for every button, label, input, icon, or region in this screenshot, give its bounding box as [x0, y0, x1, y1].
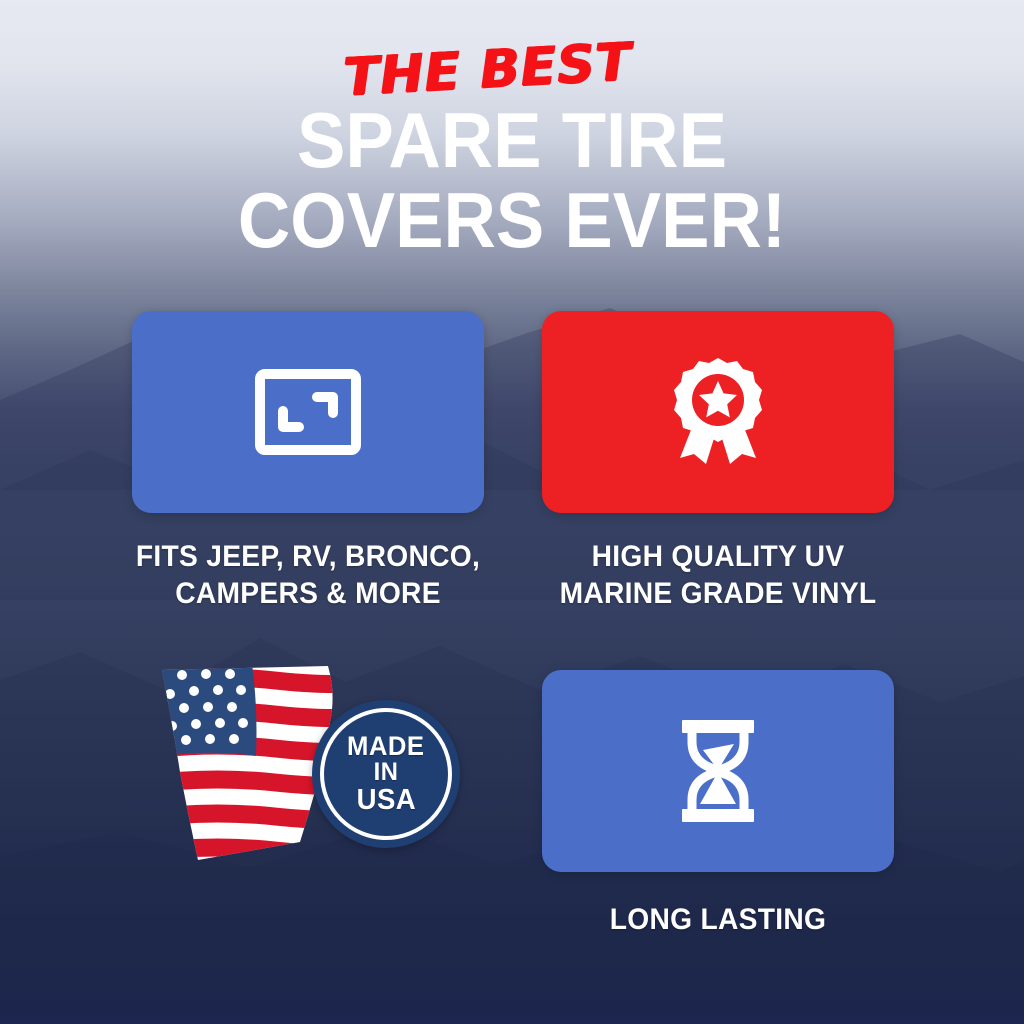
headline-block: THE BEST SPARE TIRE COVERS EVER! — [0, 44, 1024, 259]
headline-line-1: SPARE TIRE — [36, 102, 988, 178]
award-ribbon-icon — [666, 354, 770, 470]
feature-quality-caption-line-2: MARINE GRADE VINYL — [560, 577, 877, 610]
feature-lasting-tile — [542, 670, 894, 872]
feature-fits-caption-line-1: FITS JEEP, RV, BRONCO, — [136, 540, 480, 573]
feature-lasting-caption: LONG LASTING — [521, 902, 916, 939]
feature-quality-caption-line-1: HIGH QUALITY UV — [592, 540, 845, 573]
feature-fits-caption: FITS JEEP, RV, BRONCO, CAMPERS & MORE — [111, 539, 506, 612]
fit-resize-icon — [255, 369, 361, 455]
made-in-usa-badge: MADE IN USA — [312, 700, 460, 848]
feature-long-lasting: LONG LASTING — [508, 670, 928, 939]
feature-fits-caption-line-2: CAMPERS & MORE — [175, 577, 441, 610]
badge-text-in: IN — [374, 760, 399, 786]
hourglass-icon — [676, 718, 760, 824]
usa-flag-badge-art: MADE IN USA — [132, 660, 484, 872]
feature-quality: HIGH QUALITY UV MARINE GRADE VINYL — [508, 311, 928, 612]
feature-made-in-usa: MADE IN USA — [98, 660, 518, 872]
feature-quality-tile — [542, 311, 894, 513]
feature-fits-tile — [132, 311, 484, 513]
made-in-usa-badge-ring: MADE IN USA — [320, 708, 452, 840]
feature-fits: FITS JEEP, RV, BRONCO, CAMPERS & MORE — [98, 311, 518, 612]
feature-quality-caption: HIGH QUALITY UV MARINE GRADE VINYL — [521, 539, 916, 612]
badge-text-made: MADE — [347, 733, 424, 761]
badge-text-usa: USA — [356, 786, 416, 816]
headline-line-2: COVERS EVER! — [36, 182, 988, 258]
promo-poster: THE BEST SPARE TIRE COVERS EVER! FITS JE… — [0, 0, 1024, 1024]
